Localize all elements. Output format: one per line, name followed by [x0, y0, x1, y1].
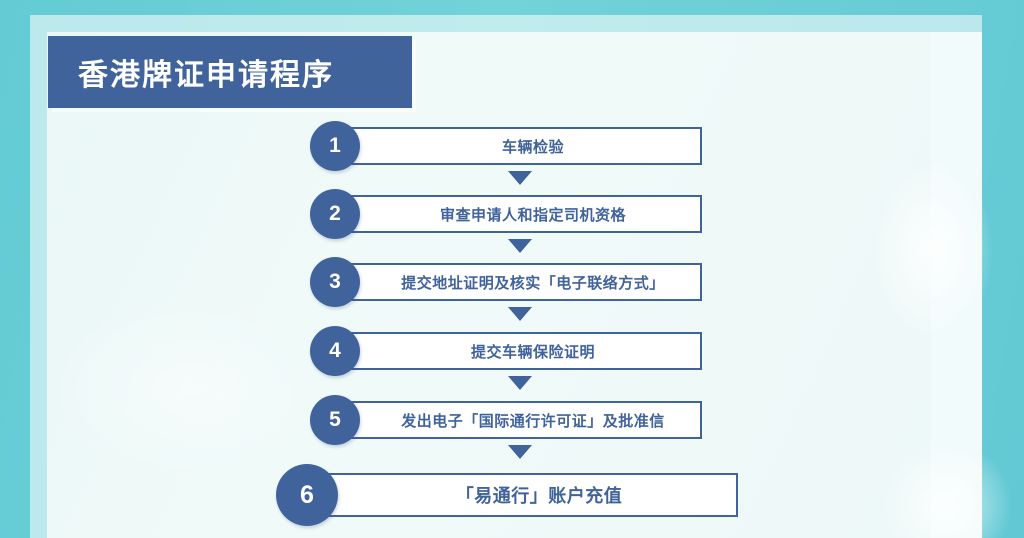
flow-step-5[interactable]: 发出电子「国际通行许可证」及批准信 5: [310, 395, 702, 445]
flow-step-2-box[interactable]: 审查申请人和指定司机资格: [338, 195, 702, 233]
flow-step-1-box[interactable]: 车辆检验: [338, 127, 702, 165]
flow-step-3[interactable]: 提交地址证明及核实「电子联络方式」 3: [310, 257, 702, 307]
flow-step-6-label: 「易通行」账户充值: [426, 482, 623, 508]
flow-step-2-label: 审查申请人和指定司机资格: [414, 204, 626, 225]
flow-step-1-label: 车辆检验: [476, 136, 564, 157]
flow-arrow-3-to-4-icon: [508, 307, 532, 321]
flow-step-3-box[interactable]: 提交地址证明及核实「电子联络方式」: [338, 263, 702, 301]
flow-step-1[interactable]: 车辆检验 1: [310, 121, 702, 171]
flow-arrow-1-to-2-icon: [508, 171, 532, 185]
flow-step-6-box[interactable]: 「易通行」账户充值: [310, 473, 738, 517]
flow-step-1-number-badge: 1: [310, 121, 360, 171]
flow-step-5-number-badge: 5: [310, 395, 360, 445]
flow-arrow-5-to-6-icon: [508, 445, 532, 459]
flow-step-3-label: 提交地址证明及核实「电子联络方式」: [375, 272, 665, 293]
flow-step-4-label: 提交车辆保险证明: [445, 341, 595, 362]
flow-step-6-number-badge: 6: [276, 464, 338, 526]
flow-arrow-2-to-3-icon: [508, 239, 532, 253]
flow-step-4-box[interactable]: 提交车辆保险证明: [338, 332, 702, 370]
flow-step-2[interactable]: 审查申请人和指定司机资格 2: [310, 189, 702, 239]
flow-step-3-number-badge: 3: [310, 257, 360, 307]
flowchart: 车辆检验 1 审查申请人和指定司机资格 2 提交地址证明及核实「电子联络方式」 …: [0, 0, 1024, 538]
flow-step-4[interactable]: 提交车辆保险证明 4: [310, 326, 702, 376]
flow-step-5-box[interactable]: 发出电子「国际通行许可证」及批准信: [338, 401, 702, 439]
slide-canvas: 香港牌证申请程序 车辆检验 1 审查申请人和指定司机资格 2 提交地址证明及核实…: [0, 0, 1024, 538]
flow-step-6[interactable]: 「易通行」账户充值 6: [276, 464, 738, 526]
flow-step-2-number-badge: 2: [310, 189, 360, 239]
flow-step-4-number-badge: 4: [310, 326, 360, 376]
flow-arrow-4-to-5-icon: [508, 376, 532, 390]
flow-step-5-label: 发出电子「国际通行许可证」及批准信: [375, 410, 665, 431]
